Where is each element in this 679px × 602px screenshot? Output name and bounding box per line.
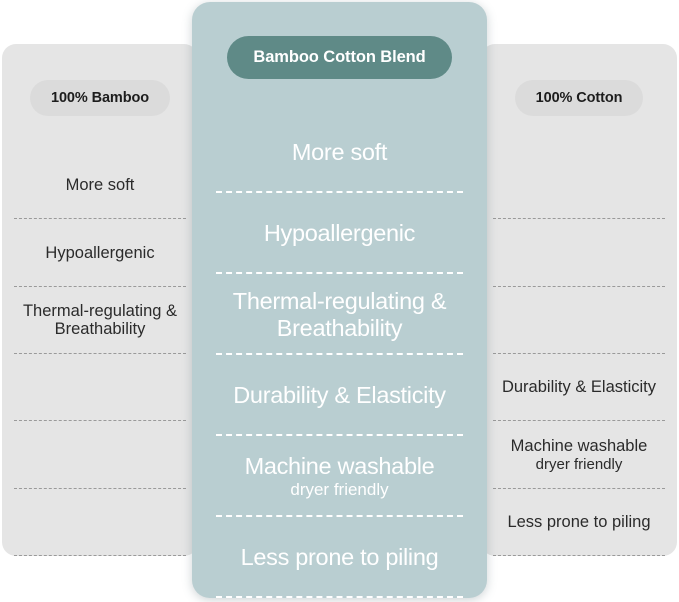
badge-container-cotton: 100% Cotton — [491, 44, 667, 152]
feature-label: Thermal-regulating & Breathability — [208, 288, 471, 342]
feature-row: Durability & Elasticity — [208, 355, 471, 436]
feature-row: Thermal-regulating & Breathability — [12, 287, 188, 354]
feature-row: Durability & Elasticity — [491, 354, 667, 421]
comparison-column-blend-highlighted: Bamboo Cotton Blend More soft Hypoallerg… — [192, 2, 487, 598]
badge-container-blend: Bamboo Cotton Blend — [208, 2, 471, 112]
column-badge-bamboo: 100% Bamboo — [30, 80, 170, 116]
feature-sublabel: dryer friendly — [290, 480, 388, 500]
feature-label: Machine washable — [509, 437, 650, 456]
feature-rows-bamboo: More soft Hypoallergenic Thermal-regulat… — [12, 152, 188, 556]
feature-row: Hypoallergenic — [12, 219, 188, 286]
feature-row: Less prone to piling — [491, 489, 667, 556]
feature-label: Durability & Elasticity — [500, 378, 658, 397]
feature-row-empty — [491, 287, 667, 354]
feature-row-empty — [12, 489, 188, 556]
comparison-column-cotton: 100% Cotton Durability & Elasticity Mach… — [481, 44, 677, 556]
feature-label: Thermal-regulating & Breathability — [12, 302, 188, 340]
feature-row-empty — [12, 354, 188, 421]
comparison-column-bamboo: 100% Bamboo More soft Hypoallergenic The… — [2, 44, 198, 556]
feature-label: Hypoallergenic — [262, 220, 417, 247]
feature-rows-cotton: Durability & Elasticity Machine washable… — [491, 152, 667, 556]
feature-label: More soft — [290, 139, 389, 166]
feature-row: More soft — [208, 112, 471, 193]
feature-row-empty — [491, 152, 667, 219]
feature-label: More soft — [64, 176, 137, 195]
feature-sublabel: dryer friendly — [536, 456, 623, 473]
feature-label: Hypoallergenic — [43, 244, 156, 263]
feature-row: Thermal-regulating & Breathability — [208, 274, 471, 355]
feature-row: Less prone to piling — [208, 517, 471, 598]
column-badge-blend: Bamboo Cotton Blend — [227, 36, 451, 79]
feature-label: Less prone to piling — [239, 544, 441, 571]
feature-row: More soft — [12, 152, 188, 219]
feature-row: Hypoallergenic — [208, 193, 471, 274]
feature-rows-blend: More soft Hypoallergenic Thermal-regulat… — [208, 112, 471, 598]
product-comparison-chart: 100% Bamboo More soft Hypoallergenic The… — [0, 0, 679, 602]
feature-row: Machine washable dryer friendly — [208, 436, 471, 517]
feature-row-empty — [491, 219, 667, 286]
feature-label: Durability & Elasticity — [231, 382, 448, 409]
feature-row-empty — [12, 421, 188, 488]
feature-row: Machine washable dryer friendly — [491, 421, 667, 488]
feature-label: Machine washable — [243, 453, 437, 480]
feature-label: Less prone to piling — [505, 513, 652, 532]
badge-container-bamboo: 100% Bamboo — [12, 44, 188, 152]
column-badge-cotton: 100% Cotton — [515, 80, 644, 116]
